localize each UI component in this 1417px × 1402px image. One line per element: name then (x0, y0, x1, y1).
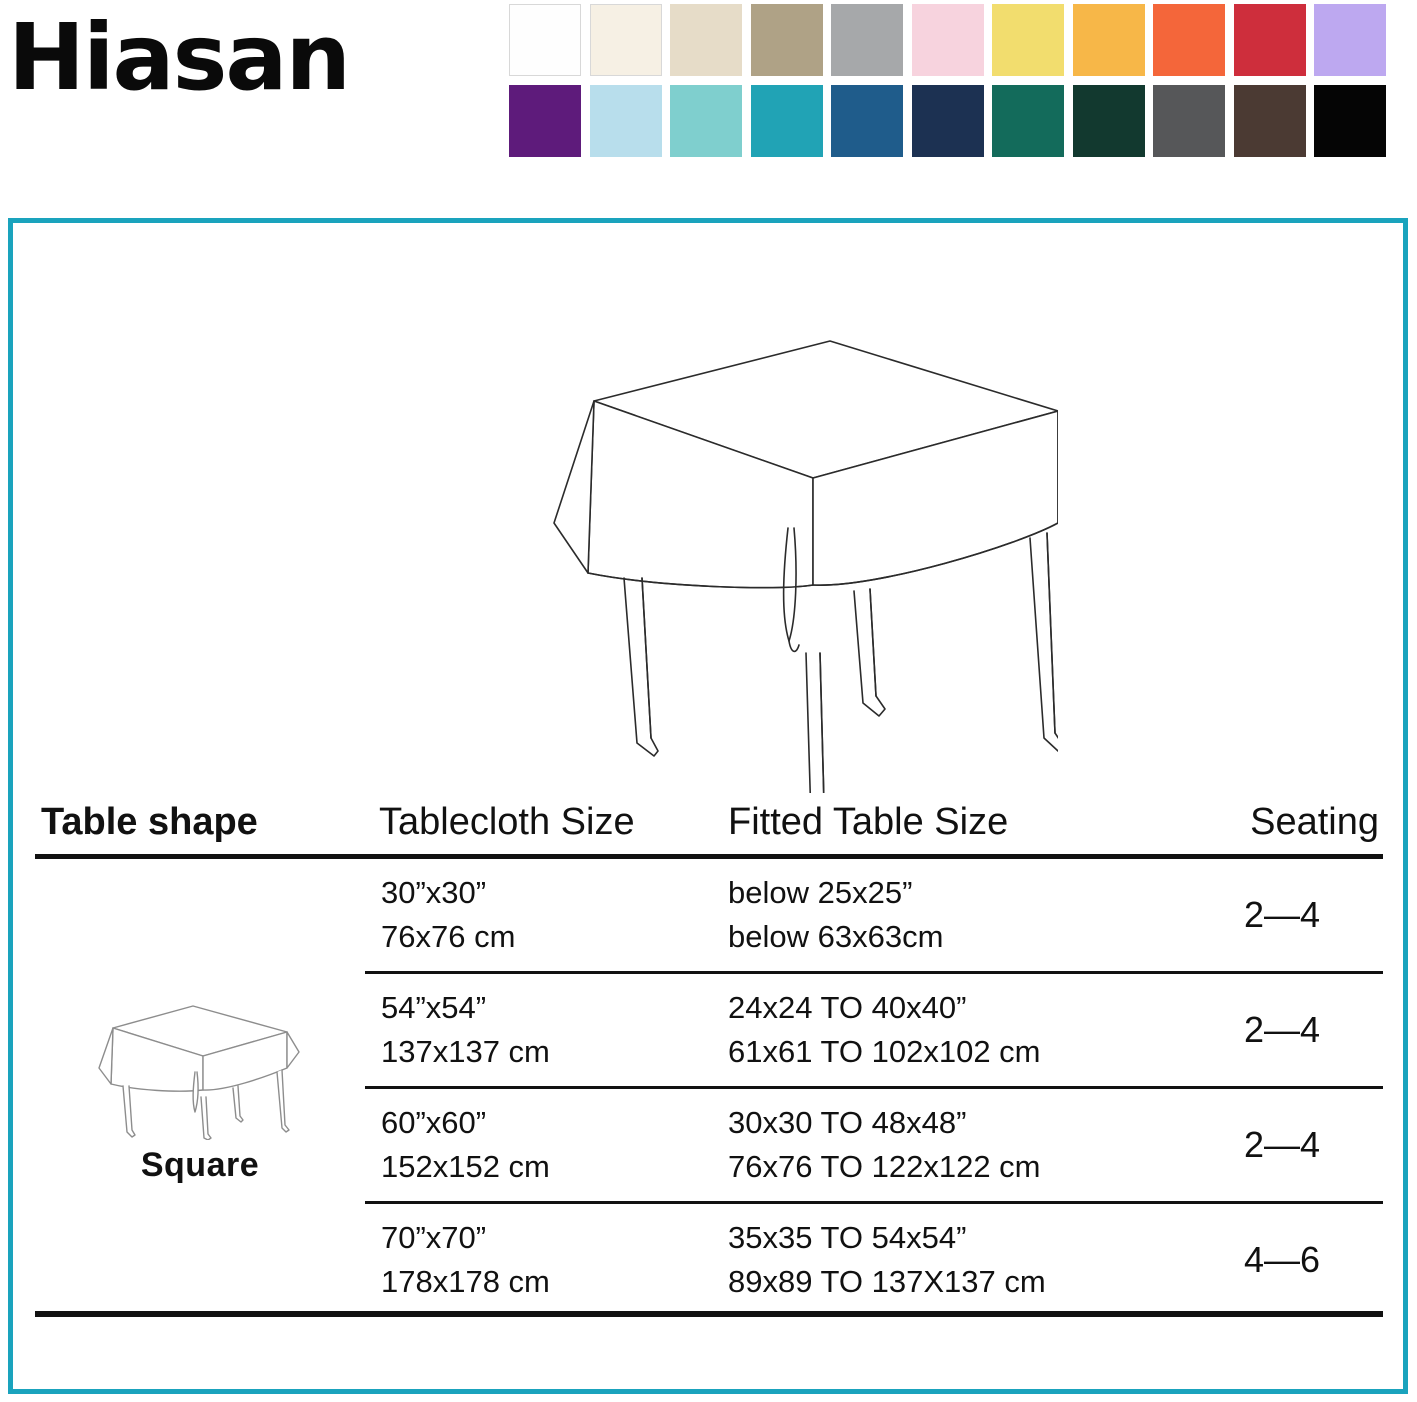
cloth-size-inches: 54”x54” (381, 986, 720, 1030)
seating-cell: 4—6 (1190, 1203, 1383, 1317)
swatch-black[interactable] (1314, 85, 1386, 157)
fitted-size-cell: 35x35 TO 54x54” 89x89 TO 137X137 cm (720, 1203, 1190, 1317)
cloth-size-cell: 54”x54” 137x137 cm (365, 973, 720, 1088)
swatch-beige[interactable] (670, 4, 742, 76)
swatch-row-light (509, 4, 1409, 76)
fitted-size-inches: 35x35 TO 54x54” (728, 1216, 1190, 1260)
fitted-size-cm: below 63x63cm (728, 915, 1190, 959)
fitted-size-cell: 24x24 TO 40x40” 61x61 TO 102x102 cm (720, 973, 1190, 1088)
cloth-size-cm: 178x178 cm (381, 1260, 720, 1304)
sizing-table-wrapper: Table shape Tablecloth Size Fitted Table… (35, 801, 1383, 1316)
cloth-size-inches: 30”x30” (381, 871, 720, 915)
brand-logo: Hiasan (8, 12, 349, 104)
seating-cell: 2—4 (1190, 1088, 1383, 1203)
hero-table-illustration (13, 323, 1403, 793)
info-panel: Table shape Tablecloth Size Fitted Table… (8, 218, 1408, 1394)
swatch-dark-brown[interactable] (1234, 85, 1306, 157)
fitted-size-cm: 89x89 TO 137X137 cm (728, 1260, 1190, 1304)
swatch-taupe[interactable] (751, 4, 823, 76)
page-header: Hiasan (0, 0, 1417, 200)
cloth-size-cell: 70”x70” 178x178 cm (365, 1203, 720, 1317)
square-table-cloth-icon (358, 323, 1058, 793)
swatch-row-dark (509, 85, 1409, 157)
cloth-size-inches: 70”x70” (381, 1216, 720, 1260)
swatch-aqua[interactable] (670, 85, 742, 157)
cloth-size-cm: 152x152 cm (381, 1145, 720, 1189)
swatch-navy[interactable] (912, 85, 984, 157)
swatch-grey[interactable] (831, 4, 903, 76)
swatch-white[interactable] (509, 4, 581, 76)
swatch-pink[interactable] (912, 4, 984, 76)
swatch-red[interactable] (1234, 4, 1306, 76)
swatch-teal[interactable] (751, 85, 823, 157)
sizing-table: Table shape Tablecloth Size Fitted Table… (35, 801, 1383, 1316)
fitted-size-cell: below 25x25” below 63x63cm (720, 857, 1190, 973)
table-header-row: Table shape Tablecloth Size Fitted Table… (35, 801, 1383, 857)
swatch-lavender[interactable] (1314, 4, 1386, 76)
fitted-size-cell: 30x30 TO 48x48” 76x76 TO 122x122 cm (720, 1088, 1190, 1203)
column-header-shape: Table shape (35, 801, 365, 857)
seating-cell: 2—4 (1190, 857, 1383, 973)
fitted-size-cm: 76x76 TO 122x122 cm (728, 1145, 1190, 1189)
fitted-size-inches: 24x24 TO 40x40” (728, 986, 1190, 1030)
swatch-gold[interactable] (1073, 4, 1145, 76)
cloth-size-cell: 30”x30” 76x76 cm (365, 857, 720, 973)
square-table-icon (85, 990, 315, 1140)
fitted-size-cm: 61x61 TO 102x102 cm (728, 1030, 1190, 1074)
fitted-size-inches: 30x30 TO 48x48” (728, 1101, 1190, 1145)
swatch-forest[interactable] (1073, 85, 1145, 157)
color-swatch-palette (509, 4, 1409, 166)
shape-label: Square (35, 1146, 365, 1185)
swatch-light-blue[interactable] (590, 85, 662, 157)
table-bottom-divider (35, 1311, 1383, 1317)
column-header-seating: Seating (1190, 801, 1383, 857)
cloth-size-inches: 60”x60” (381, 1101, 720, 1145)
seating-cell: 2—4 (1190, 973, 1383, 1088)
column-header-fitted: Fitted Table Size (720, 801, 1190, 857)
fitted-size-inches: below 25x25” (728, 871, 1190, 915)
cloth-size-cm: 137x137 cm (381, 1030, 720, 1074)
swatch-purple[interactable] (509, 85, 581, 157)
swatch-orange[interactable] (1153, 4, 1225, 76)
swatch-steel-blue[interactable] (831, 85, 903, 157)
shape-cell: Square (35, 857, 365, 1317)
table-row: Square 30”x30” 76x76 cm below 25x25” bel… (35, 857, 1383, 973)
cloth-size-cm: 76x76 cm (381, 915, 720, 959)
swatch-dark-grey[interactable] (1153, 85, 1225, 157)
cloth-size-cell: 60”x60” 152x152 cm (365, 1088, 720, 1203)
swatch-yellow[interactable] (992, 4, 1064, 76)
swatch-sea-green[interactable] (992, 85, 1064, 157)
column-header-cloth: Tablecloth Size (365, 801, 720, 857)
swatch-ivory[interactable] (590, 4, 662, 76)
